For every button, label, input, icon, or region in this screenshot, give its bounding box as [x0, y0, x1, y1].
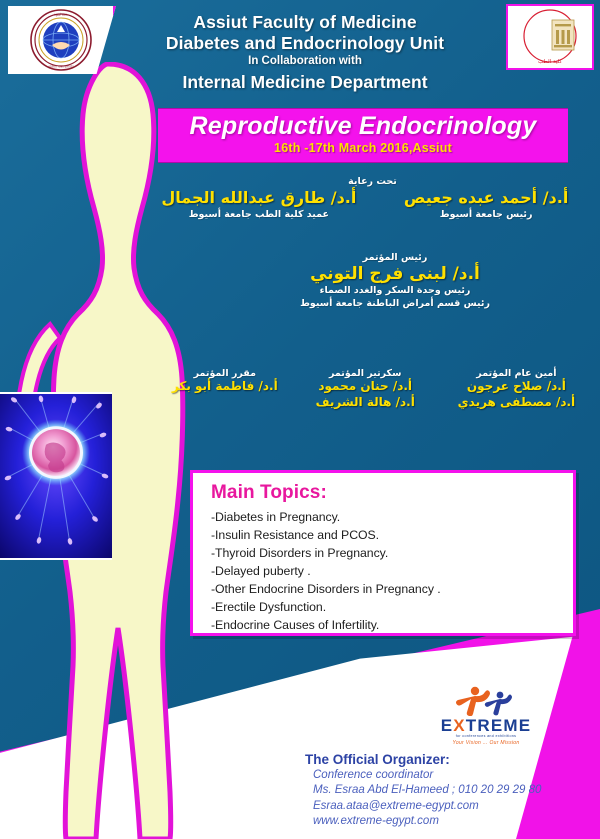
extreme-word-x: X — [453, 716, 466, 735]
committee-label-1: أمين عام المؤتمر — [441, 368, 592, 379]
official-organizer-section: The Official Organizer: Conference coord… — [305, 752, 595, 830]
patronage-label: تحت رعاية — [150, 176, 595, 187]
conference-date: 16th -17th March 2016,Assiut — [158, 141, 568, 155]
header-line-4: Internal Medicine Department — [120, 71, 490, 94]
topic-item: -Erectile Dysfunction. — [211, 598, 573, 616]
committee-name-3-1: أ.د/ فاطمة أبو بكر — [160, 379, 290, 395]
president-label: رئيس المؤتمر — [200, 252, 590, 263]
svg-text:ASSIUT UNIVERSITY: ASSIUT UNIVERSITY — [48, 65, 74, 69]
committee-label-3: مقرر المؤتمر — [160, 368, 290, 379]
committee-name-2-1: أ.د/ حنان محمود — [294, 379, 437, 395]
committee-section: أمين عام المؤتمر أ.د/ صلاح عرجون أ.د/ مص… — [160, 368, 592, 411]
president-role-1: رئيس وحدة السكر والغدد الصماء — [200, 285, 590, 298]
organizer-website[interactable]: www.extreme-egypt.com — [305, 814, 595, 829]
committee-label-2: سكرتير المؤتمر — [294, 368, 437, 379]
header-line-3: In Collaboration with — [120, 53, 490, 70]
ovum-fertilization-image — [0, 392, 112, 560]
president-role-2: رئيس قسم أمراض الباطنة جامعة أسيوط — [200, 298, 590, 311]
extreme-tagline-2: Your Vision ... Our Mission — [425, 740, 547, 746]
extreme-wordmark: EXTREME — [425, 717, 547, 734]
extreme-logo-figures-icon — [425, 686, 547, 716]
main-topics-box: Main Topics: -Diabetes in Pregnancy. -In… — [190, 470, 576, 636]
header-line-2: Diabetes and Endocrinology Unit — [120, 33, 490, 54]
faculty-of-medicine-crescent-logo: كلية الطب — [506, 4, 594, 70]
organizer-title: The Official Organizer: — [305, 752, 595, 767]
conference-title: Reproductive Endocrinology — [158, 112, 568, 140]
patron-role-1: رئيس جامعة أسيوط — [381, 209, 591, 222]
crescent-logo-caption: كلية الطب — [538, 58, 562, 65]
committee-name-1-1: أ.د/ صلاح عرجون — [441, 379, 592, 395]
topic-item: -Other Endocrine Disorders in Pregnancy … — [211, 580, 573, 598]
patron-person-1: أ.د/ أحمد عبده جعيص رئيس جامعة أسيوط — [381, 188, 591, 222]
patronage-section: تحت رعاية أ.د/ أحمد عبده جعيص رئيس جامعة… — [150, 176, 595, 222]
organizer-contact-name: Ms. Esraa Abd El-Hameed ; 010 20 29 29 8… — [305, 783, 595, 798]
organizer-email[interactable]: Esraa.ataa@extreme-egypt.com — [305, 799, 595, 814]
conference-poster: جامعة أسيوط ASSIUT UNIVERSITY كلية الطب … — [0, 0, 600, 839]
poster-header: Assiut Faculty of Medicine Diabetes and … — [120, 12, 490, 93]
committee-name-2-2: أ.د/ هالة الشريف — [294, 395, 437, 411]
patron-name-1: أ.د/ أحمد عبده جعيص — [381, 188, 591, 209]
topic-item: -Thyroid Disorders in Pregnancy. — [211, 544, 573, 562]
header-line-1: Assiut Faculty of Medicine — [120, 12, 490, 33]
patron-person-2: أ.د/ طارق عبدالله الجمال عميد كلية الطب … — [154, 188, 364, 222]
patron-role-2: عميد كلية الطب جامعة أسيوط — [154, 209, 364, 222]
organizer-role: Conference coordinator — [305, 768, 595, 783]
topic-item: -Endocrine Causes of Infertility. — [211, 616, 573, 634]
topic-item: -Delayed puberty . — [211, 562, 573, 580]
committee-column-secretary: سكرتير المؤتمر أ.د/ حنان محمود أ.د/ هالة… — [294, 368, 437, 411]
patron-name-2: أ.د/ طارق عبدالله الجمال — [154, 188, 364, 209]
conference-president-section: رئيس المؤتمر أ.د/ لبنى فرج التوني رئيس و… — [200, 252, 590, 311]
committee-column-secretary-general: أمين عام المؤتمر أ.د/ صلاح عرجون أ.د/ مص… — [441, 368, 592, 411]
svg-text:جامعة أسيوط: جامعة أسيوط — [53, 13, 68, 17]
assiut-university-seal: جامعة أسيوط ASSIUT UNIVERSITY — [8, 6, 116, 74]
title-banner: Reproductive Endocrinology 16th -17th Ma… — [158, 108, 568, 163]
extreme-company-logo: EXTREME for conferences and exhibitions … — [425, 686, 547, 746]
extreme-word-rest: TREME — [466, 716, 532, 735]
main-topics-title: Main Topics: — [211, 482, 573, 504]
topic-item: -Diabetes in Pregnancy. — [211, 508, 573, 526]
president-name: أ.د/ لبنى فرج التوني — [200, 263, 590, 285]
extreme-word-e: E — [441, 716, 454, 735]
committee-column-rapporteur: مقرر المؤتمر أ.د/ فاطمة أبو بكر — [160, 368, 290, 411]
topic-item: -Insulin Resistance and PCOS. — [211, 526, 573, 544]
main-topics-list: -Diabetes in Pregnancy. -Insulin Resista… — [211, 508, 573, 634]
committee-name-1-2: أ.د/ مصطفى هريدي — [441, 395, 592, 411]
